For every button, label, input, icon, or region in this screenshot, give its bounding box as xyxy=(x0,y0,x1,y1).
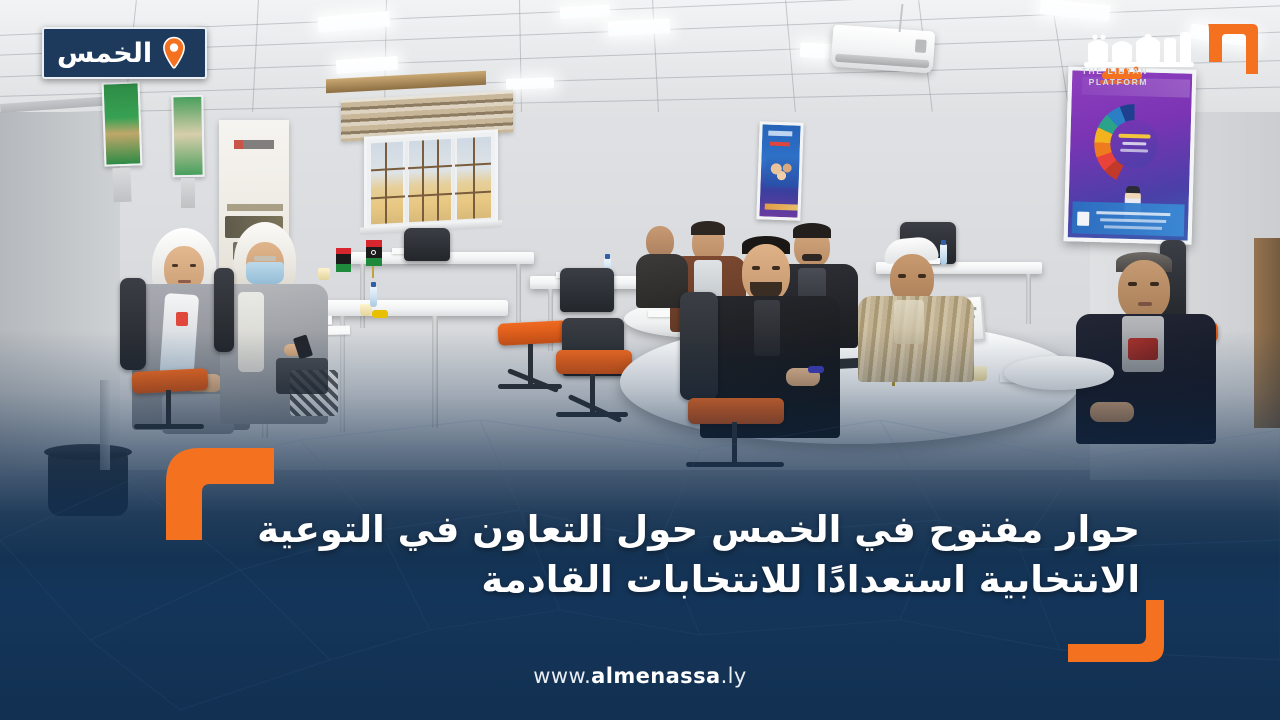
libyan-flag-stand xyxy=(336,248,351,272)
participant-man-white-cap xyxy=(858,240,974,380)
orange-corner-bracket-bottom-right xyxy=(1068,600,1164,662)
almenassa-logo-icon: THE LIBYAN PLATFORM xyxy=(1076,12,1262,94)
green-wall-poster xyxy=(171,95,204,178)
paper-cup xyxy=(972,366,987,381)
ceiling-light-panel xyxy=(608,18,671,36)
water-bottle xyxy=(370,286,377,307)
blue-wall-poster xyxy=(756,121,803,220)
ceiling-light-panel xyxy=(506,77,554,90)
tie xyxy=(1128,338,1158,360)
participant-elder-man xyxy=(1076,254,1216,444)
poster-mount xyxy=(112,168,131,203)
website-name: almenassa xyxy=(591,664,720,688)
news-card: الخمس xyxy=(0,0,1280,720)
office-chair xyxy=(404,228,450,261)
ceiling-light-panel xyxy=(317,11,390,33)
hair xyxy=(691,221,725,235)
headline-line-1: حوار مفتوح في الخمس حول التعاون في التوع… xyxy=(170,505,1140,555)
hand xyxy=(1090,402,1134,422)
website-tld: .ly xyxy=(721,664,747,688)
name-badge xyxy=(176,312,188,326)
bin-rim xyxy=(44,444,132,460)
door-frame xyxy=(1254,238,1280,428)
participant-man-back xyxy=(636,226,688,306)
chair-seat xyxy=(556,350,632,374)
svg-text:PLATFORM: PLATFORM xyxy=(1089,77,1148,87)
ceiling-light-panel xyxy=(560,5,611,20)
yellow-dish xyxy=(372,310,388,318)
window xyxy=(364,129,498,229)
office-chair xyxy=(120,278,146,370)
eyeglasses xyxy=(254,256,276,261)
hair xyxy=(793,223,831,238)
map-pin-icon xyxy=(161,36,187,70)
office-chair xyxy=(680,292,718,400)
pen xyxy=(808,366,824,373)
location-label: الخمس xyxy=(57,40,152,67)
website-url[interactable]: www.almenassa.ly xyxy=(0,664,1280,688)
libyan-flag-stand xyxy=(366,240,382,266)
poster-mount xyxy=(181,178,195,208)
headline-line-2: الانتخابية استعدادًا للانتخابات القادمة xyxy=(170,555,1140,605)
round-table-right xyxy=(1004,356,1114,390)
green-wall-poster xyxy=(102,81,143,166)
headline: حوار مفتوح في الخمس حول التعاون في التوع… xyxy=(170,505,1140,604)
mop-handle xyxy=(100,380,110,470)
svg-text:THE LIBYAN: THE LIBYAN xyxy=(1082,66,1148,76)
flag-pole xyxy=(372,266,374,278)
trash-bin xyxy=(48,452,128,516)
website-prefix: www. xyxy=(533,664,591,688)
office-chair xyxy=(560,268,614,312)
air-conditioner-unit xyxy=(831,24,936,73)
location-badge[interactable]: الخمس xyxy=(42,27,207,79)
chair-seat xyxy=(688,398,784,424)
brand-logo[interactable]: THE LIBYAN PLATFORM xyxy=(1076,12,1262,94)
coat xyxy=(276,358,328,394)
face-mask xyxy=(246,262,284,284)
chair-seat xyxy=(497,320,568,346)
office-chair xyxy=(214,268,234,352)
ceiling-light-panel xyxy=(336,56,399,74)
